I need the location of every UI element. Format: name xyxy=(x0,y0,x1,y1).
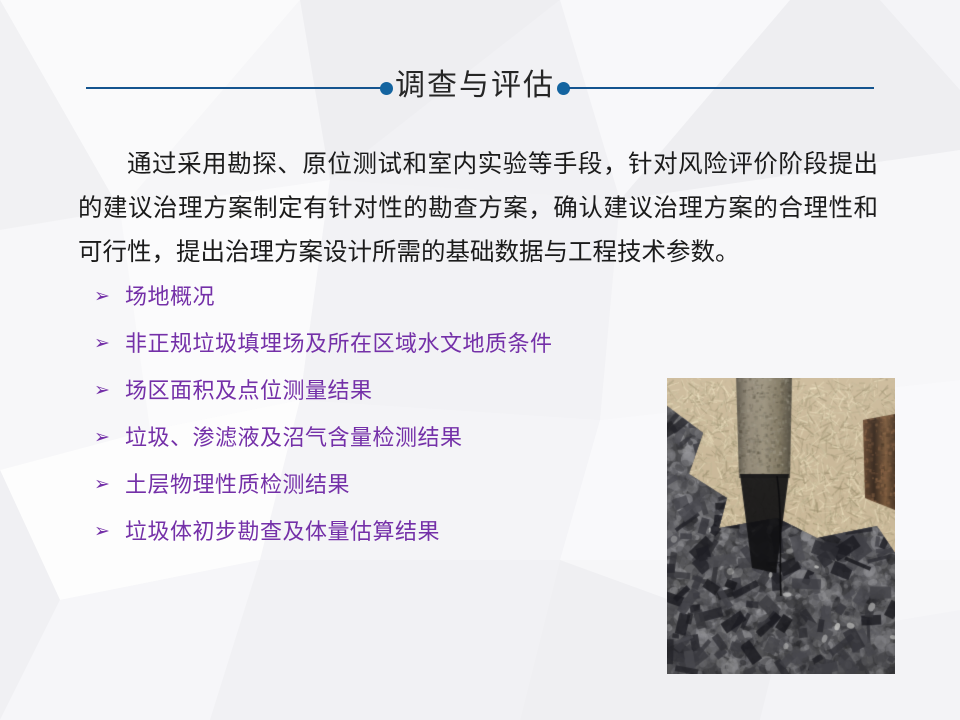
list-item[interactable]: ➢ 场地概况 xyxy=(94,283,624,330)
arrow-bullet-icon: ➢ xyxy=(94,377,125,405)
list-item[interactable]: ➢ 非正规垃圾填埋场及所在区域水文地质条件 xyxy=(94,330,624,377)
title-rule-right xyxy=(569,87,874,89)
body-paragraph: 通过采用勘探、原位测试和室内实验等手段，针对风险评价阶段提出的建议治理方案制定有… xyxy=(78,143,878,275)
arrow-bullet-icon: ➢ xyxy=(94,424,125,452)
arrow-bullet-icon: ➢ xyxy=(94,330,125,358)
bullet-list: ➢ 场地概况 ➢ 非正规垃圾填埋场及所在区域水文地质条件 ➢ 场区面积及点位测量… xyxy=(94,283,624,565)
list-item[interactable]: ➢ 土层物理性质检测结果 xyxy=(94,471,624,518)
list-item-label: 场地概况 xyxy=(125,283,624,311)
list-item-label: 垃圾、渗滤液及沼气含量检测结果 xyxy=(125,424,624,452)
slide-canvas: 调查与评估 通过采用勘探、原位测试和室内实验等手段，针对风险评价阶段提出的建议治… xyxy=(0,0,960,720)
title-rule-left xyxy=(86,87,381,89)
arrow-bullet-icon: ➢ xyxy=(94,518,125,546)
list-item-label: 场区面积及点位测量结果 xyxy=(125,377,624,405)
list-item[interactable]: ➢ 垃圾、渗滤液及沼气含量检测结果 xyxy=(94,424,624,471)
arrow-bullet-icon: ➢ xyxy=(94,283,125,311)
list-item-label: 非正规垃圾填埋场及所在区域水文地质条件 xyxy=(125,330,624,358)
list-item[interactable]: ➢ 垃圾体初步勘查及体量估算结果 xyxy=(94,518,624,565)
slide-title-block: 调查与评估 xyxy=(0,62,960,114)
list-item-label: 垃圾体初步勘查及体量估算结果 xyxy=(125,518,624,546)
site-photo-image xyxy=(667,378,895,674)
site-photo xyxy=(667,378,895,674)
list-item-label: 土层物理性质检测结果 xyxy=(125,471,624,499)
list-item[interactable]: ➢ 场区面积及点位测量结果 xyxy=(94,377,624,424)
arrow-bullet-icon: ➢ xyxy=(94,471,125,499)
page-title: 调查与评估 xyxy=(392,71,558,106)
